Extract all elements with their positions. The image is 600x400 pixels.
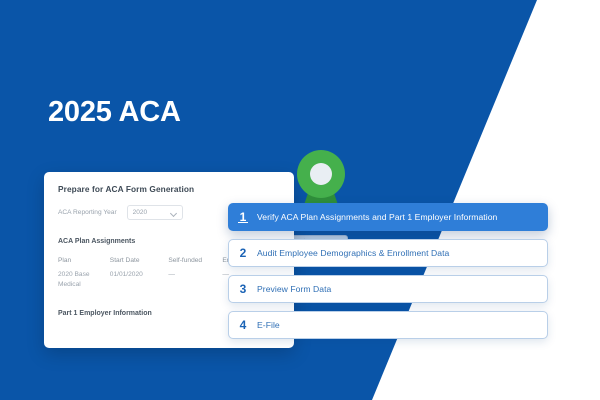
cell-self-funded: — — [168, 270, 222, 290]
step-item-2[interactable]: 2 Audit Employee Demographics & Enrollme… — [228, 239, 548, 267]
chevron-down-icon — [171, 210, 177, 216]
step-item-4[interactable]: 4 E-File — [228, 311, 548, 339]
step-number-2: 2 — [229, 246, 257, 260]
card-title: Prepare for ACA Form Generation — [58, 184, 194, 194]
step-label-4: E-File — [257, 320, 280, 330]
step-label-3: Preview Form Data — [257, 284, 331, 294]
step-number-1: 1 — [229, 210, 257, 224]
cell-start-date: 01/01/2020 — [110, 270, 169, 290]
reporting-year-field: ACA Reporting Year 2020 — [58, 205, 183, 220]
reporting-year-label: ACA Reporting Year — [58, 209, 117, 216]
step-number-3: 3 — [229, 282, 257, 296]
step-item-3[interactable]: 3 Preview Form Data — [228, 275, 548, 303]
step-item-1[interactable]: 1 Verify ACA Plan Assignments and Part 1… — [228, 203, 548, 231]
step-label-1: Verify ACA Plan Assignments and Part 1 E… — [257, 212, 497, 222]
part1-employer-information-title: Part 1 Employer Information — [58, 310, 152, 317]
column-header-start-date: Start Date — [110, 254, 169, 270]
step-label-2: Audit Employee Demographics & Enrollment… — [257, 248, 449, 258]
steps-list: 1 Verify ACA Plan Assignments and Part 1… — [228, 203, 548, 347]
column-header-plan: Plan — [58, 254, 110, 270]
column-header-self-funded: Self-funded — [168, 254, 222, 270]
promo-banner: 2025 ACA Best Practices Edit ACA Plan As… — [0, 0, 600, 400]
reporting-year-select[interactable]: 2020 — [127, 205, 183, 220]
page-title-line-1: 2025 ACA — [48, 93, 245, 132]
reporting-year-value: 2020 — [133, 209, 147, 216]
cell-plan: 2020 Base Medical — [58, 270, 110, 290]
step-number-4: 4 — [229, 318, 257, 332]
plan-assignments-section-title: ACA Plan Assignments — [58, 238, 135, 245]
